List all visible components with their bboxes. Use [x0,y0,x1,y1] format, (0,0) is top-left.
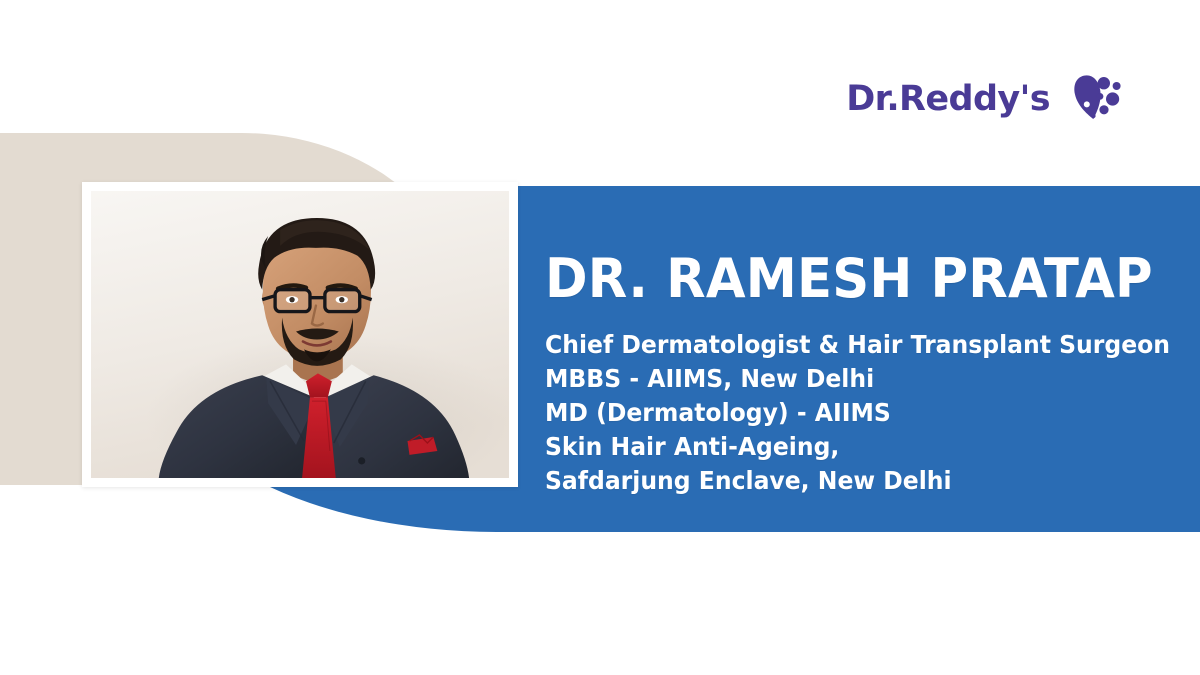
brand-logo: Dr.Reddy's [846,68,1122,130]
credential-line: MBBS - AIIMS, New Delhi [545,362,1147,396]
doctor-name: DR. RAMESH PRATAP [545,252,1153,306]
credentials-list: Chief Dermatologist & Hair Transplant Su… [545,328,1185,498]
credential-line: Chief Dermatologist & Hair Transplant Su… [545,328,1147,362]
brand-wordmark: Dr.Reddy's [846,82,1050,117]
promo-card-canvas: DR. RAMESH PRATAP Chief Dermatologist & … [0,0,1200,675]
doctor-photo-card [82,182,518,487]
credential-line: MD (Dermatology) - AIIMS [545,396,1147,430]
doctor-portrait-image [91,191,509,478]
heart-leaf-dots-logo-icon [1064,71,1122,127]
doctor-info-block: DR. RAMESH PRATAP Chief Dermatologist & … [545,252,1185,498]
doctor-photo-frame [91,191,509,478]
credential-line: Safdarjung Enclave, New Delhi [545,464,1147,498]
credential-line: Skin Hair Anti-Ageing, [545,430,1147,464]
